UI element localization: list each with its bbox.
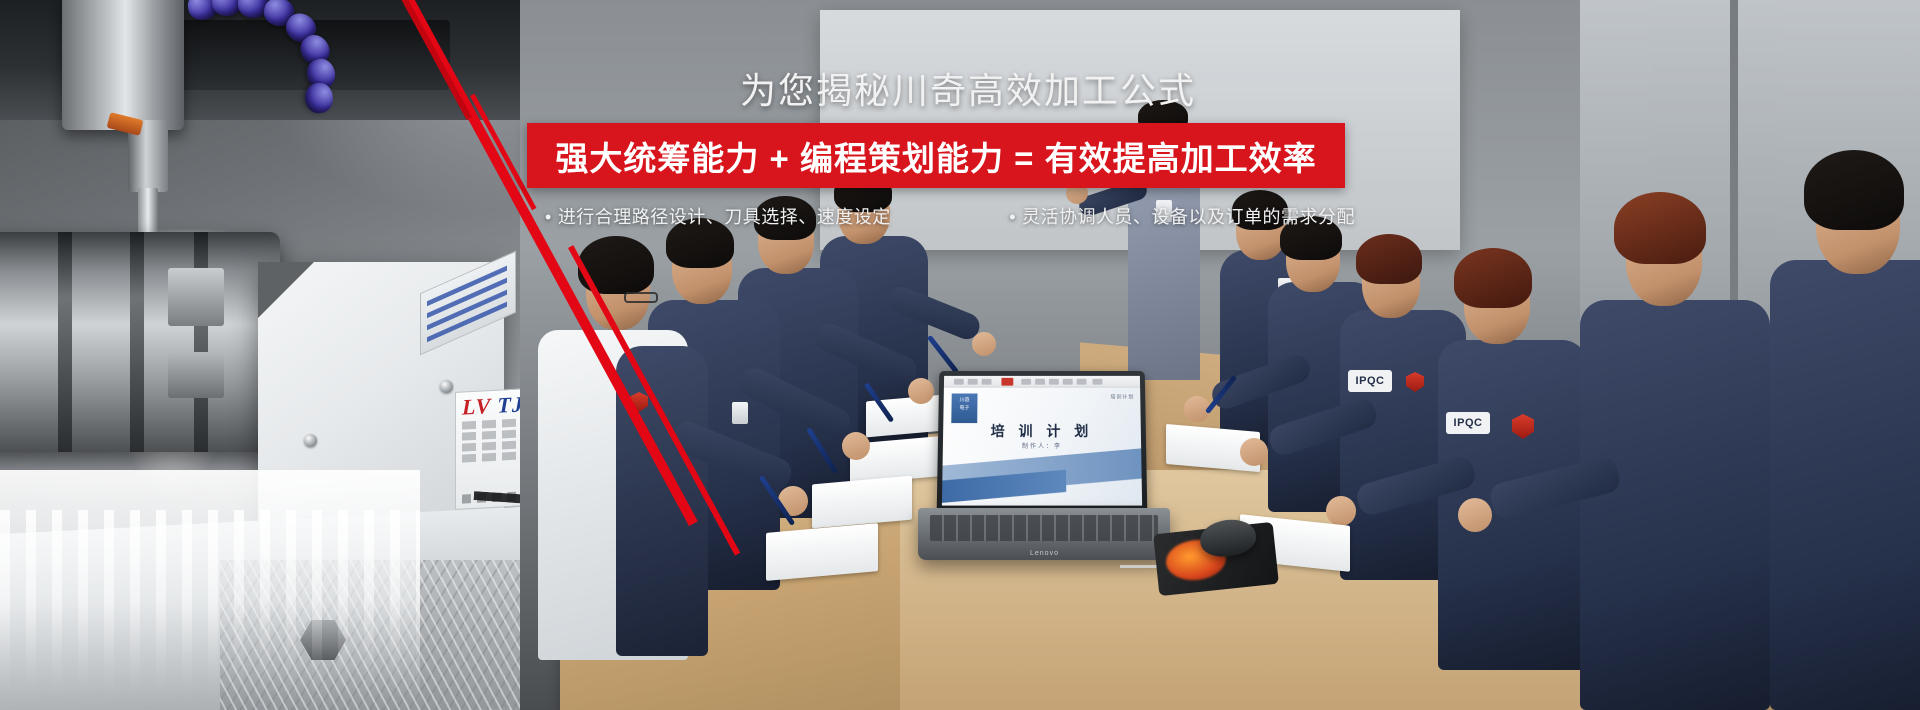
bullet-list: •进行合理路径设计、刀具选择、速度设定 •灵活协调人员、设备以及订单的需求分配: [545, 203, 1355, 229]
text-overlay: 为您揭秘川奇高效加工公式 强大统筹能力 + 编程策划能力 = 有效提高加工效率 …: [0, 0, 1920, 710]
bullet-marker-icon: •: [1009, 207, 1016, 227]
bullet-text: 进行合理路径设计、刀具选择、速度设定: [558, 207, 891, 227]
formula-text: 强大统筹能力 + 编程策划能力 = 有效提高加工效率: [555, 132, 1316, 180]
bullet-item-1: •进行合理路径设计、刀具选择、速度设定: [545, 203, 891, 229]
banner-headline: 为您揭秘川奇高效加工公式: [740, 62, 1196, 114]
bullet-text: 灵活协调人员、设备以及订单的需求分配: [1022, 207, 1355, 227]
bullet-marker-icon: •: [545, 207, 552, 227]
promo-banner: LV TJR: [0, 0, 1920, 710]
formula-band: 强大统筹能力 + 编程策划能力 = 有效提高加工效率: [527, 123, 1345, 188]
bullet-item-2: •灵活协调人员、设备以及订单的需求分配: [1009, 203, 1355, 229]
